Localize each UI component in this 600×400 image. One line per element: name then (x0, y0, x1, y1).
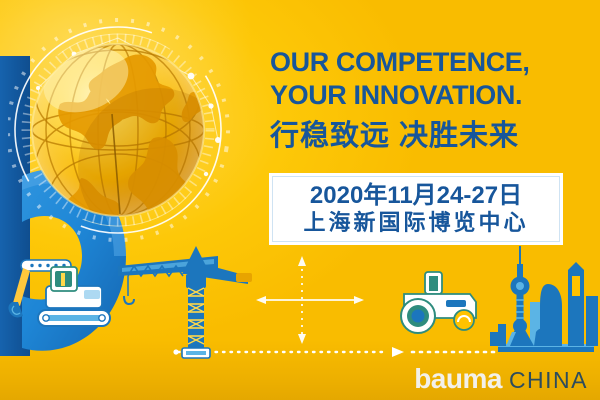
excavator-icon (8, 260, 110, 326)
dotted-arrow-line (173, 347, 498, 357)
event-venue: 上海新国际博览中心 (303, 210, 528, 236)
event-date: 2020年11月24-27日 (310, 182, 522, 210)
bauma-china-banner: OUR COMPETENCE, YOUR INNOVATION. 行稳致远 决胜… (0, 0, 600, 400)
golden-globe (8, 18, 238, 248)
logo-brand: bauma (414, 364, 502, 394)
road-roller-icon (401, 272, 476, 333)
tower-crane-icon (118, 246, 252, 358)
headline-block: OUR COMPETENCE, YOUR INNOVATION. 行稳致远 决胜… (270, 46, 582, 154)
shanghai-skyline-icon (490, 246, 598, 352)
headline-line-1: OUR COMPETENCE, (270, 46, 582, 79)
headline-line-3-cn: 行稳致远 决胜未来 (270, 118, 582, 154)
machinery-illustration (0, 240, 600, 370)
event-date-box: 2020年11月24-27日 上海新国际博览中心 (272, 176, 560, 242)
bauma-china-logo: bauma CHINA (414, 364, 588, 394)
headline-line-2: YOUR INNOVATION. (270, 79, 582, 112)
crosshair-arrows (256, 256, 364, 344)
logo-region: CHINA (509, 367, 588, 393)
